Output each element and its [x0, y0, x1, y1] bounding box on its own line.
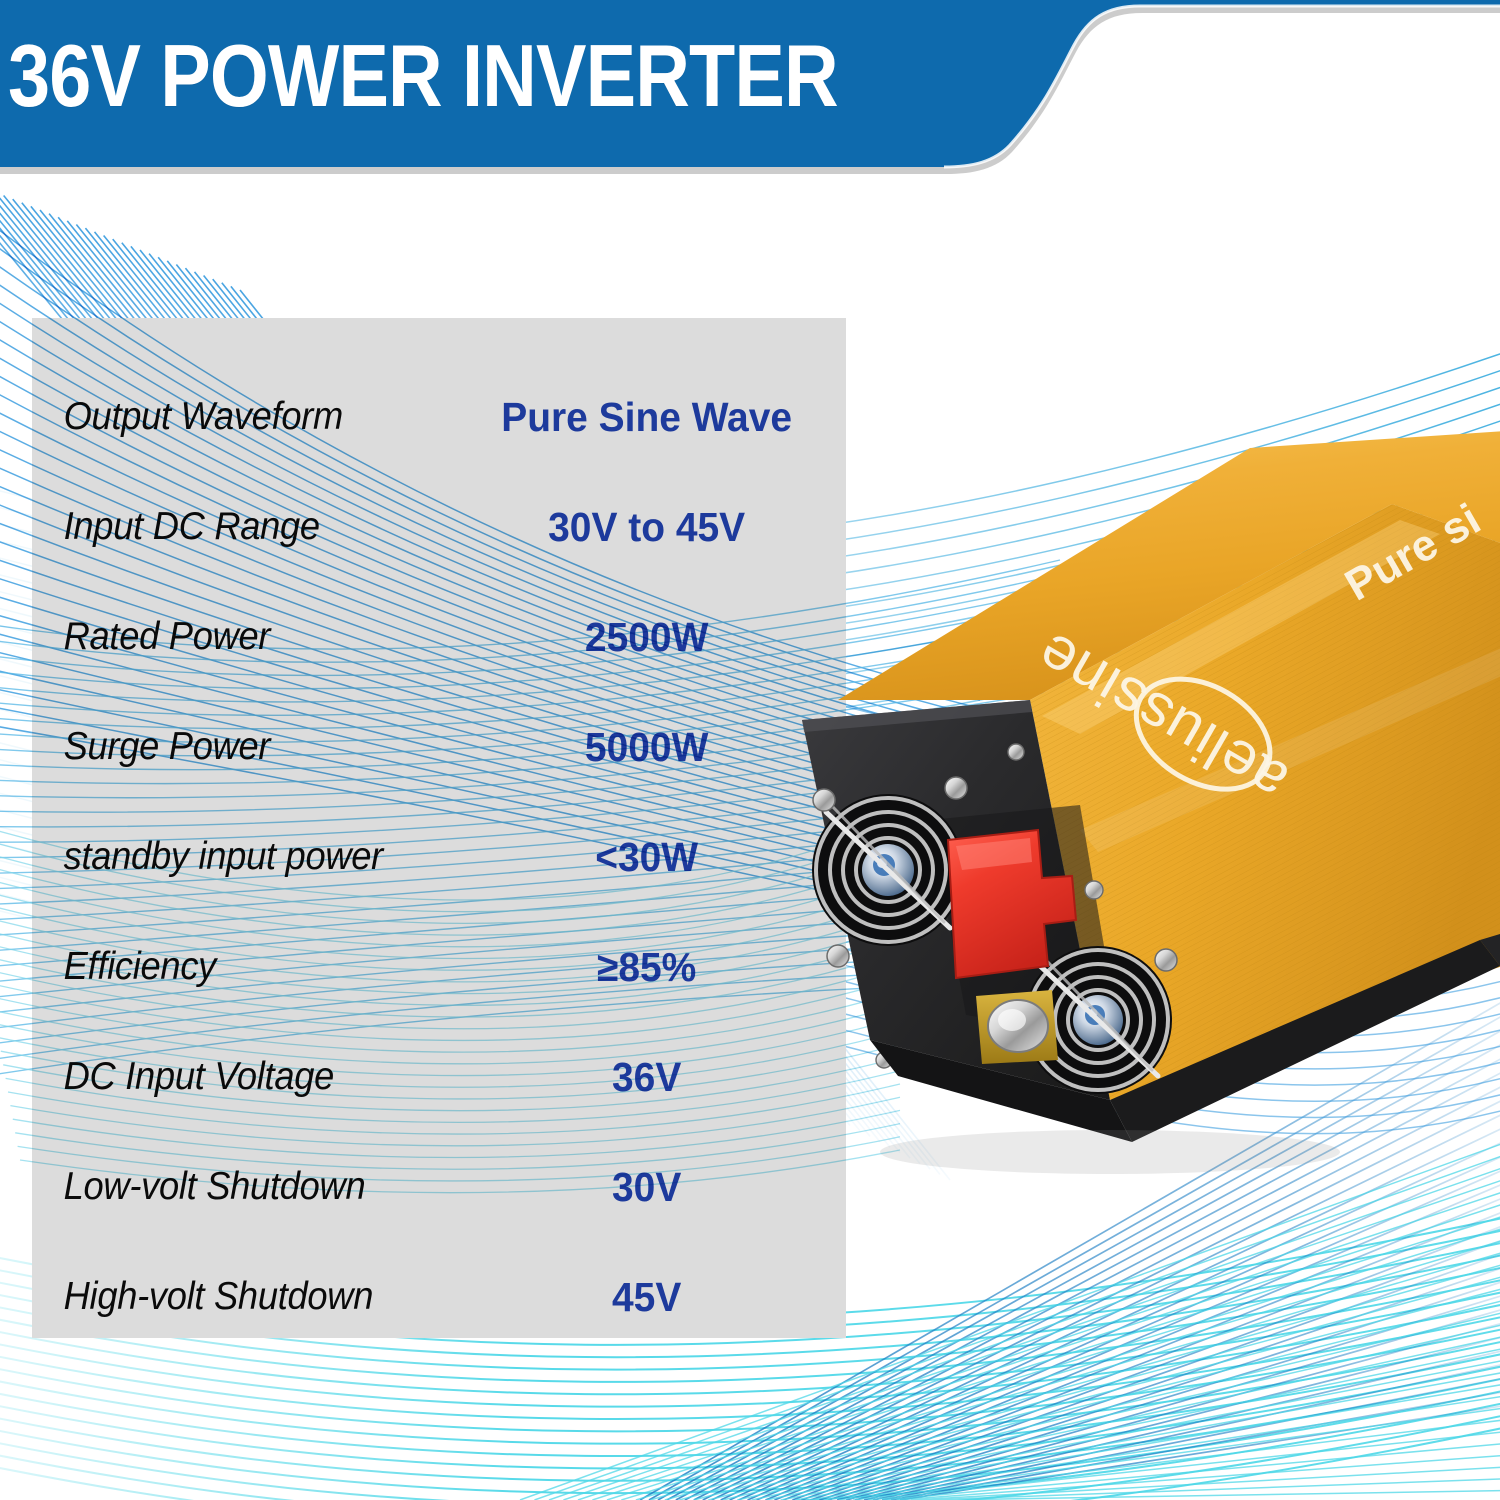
spec-row: Output WaveformPure Sine Wave [32, 370, 846, 464]
spec-label: Efficiency [32, 945, 441, 989]
spec-label: High-volt Shutdown [32, 1275, 441, 1319]
spec-row: Surge Power5000W [32, 700, 846, 794]
page-title: 36V POWER INVERTER [8, 28, 838, 124]
spec-label: standby input power [32, 835, 441, 879]
product-infographic: Output WaveformPure Sine WaveInput DC Ra… [0, 0, 1500, 1500]
spec-row: High-volt Shutdown45V [32, 1250, 846, 1344]
spec-row: Input DC Range30V to 45V [32, 480, 846, 574]
spec-table: Output WaveformPure Sine WaveInput DC Ra… [32, 318, 846, 1338]
terminal-post [976, 990, 1058, 1064]
spec-row: standby input power<30W [32, 810, 846, 904]
spec-row: Efficiency≥85% [32, 920, 846, 1014]
spec-label: Input DC Range [32, 505, 441, 549]
specifications-panel: Output WaveformPure Sine WaveInput DC Ra… [32, 318, 846, 1338]
spec-row: Rated Power2500W [32, 590, 846, 684]
spec-label: Low-volt Shutdown [32, 1165, 441, 1209]
spec-label: Rated Power [32, 615, 441, 659]
spec-label: DC Input Voltage [32, 1055, 441, 1099]
header-banner: 36V POWER INVERTER [0, 0, 1500, 168]
spec-label: Surge Power [32, 725, 441, 769]
spec-row: Low-volt Shutdown30V [32, 1140, 846, 1234]
fan-grille-left [812, 794, 964, 946]
spec-label: Output Waveform [32, 395, 441, 439]
product-image: aeliussine Pure si [780, 400, 1500, 1300]
spec-row: DC Input Voltage36V [32, 1030, 846, 1124]
